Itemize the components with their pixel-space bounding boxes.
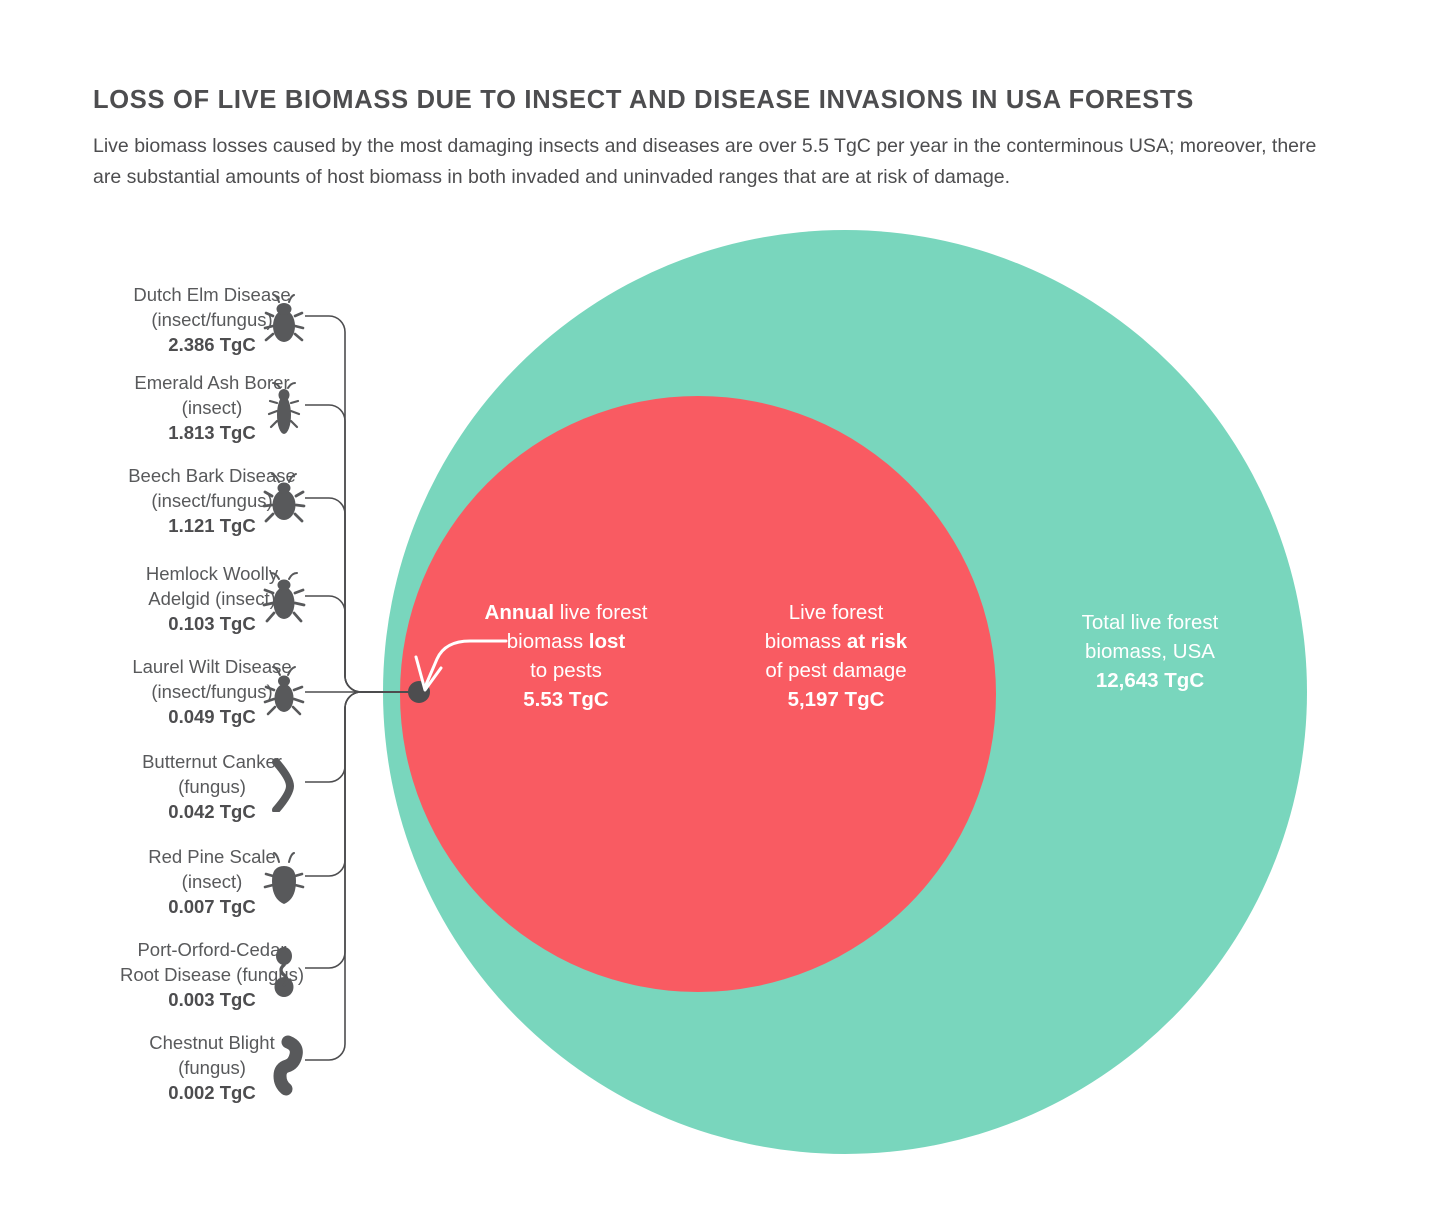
label-total-value: 12,643 TgC bbox=[1040, 666, 1260, 695]
canker-spore-icon bbox=[258, 752, 310, 816]
label-annual-loss-value: 5.53 TgC bbox=[446, 685, 686, 714]
label-at-risk-l2bold: at risk bbox=[847, 630, 907, 653]
label-at-risk: Live forest biomass at risk of pest dama… bbox=[722, 598, 950, 714]
label-total-l2: biomass, USA bbox=[1040, 637, 1260, 666]
label-annual-loss-bold: Annual bbox=[485, 601, 554, 624]
borer-icon bbox=[258, 377, 310, 441]
infographic-canvas: LOSS OF LIVE BIOMASS DUE TO INSECT AND D… bbox=[0, 0, 1440, 1220]
adelgid-icon bbox=[258, 568, 310, 632]
label-annual-loss: Annual live forest biomass lost to pests… bbox=[446, 598, 686, 714]
label-at-risk-l1: Live forest bbox=[722, 598, 950, 627]
label-total-l1: Total live forest bbox=[1040, 608, 1260, 637]
label-at-risk-value: 5,197 TgC bbox=[722, 685, 950, 714]
label-annual-loss-l2pre: biomass bbox=[507, 630, 589, 653]
label-annual-loss-l3: to pests bbox=[446, 656, 686, 685]
label-annual-loss-l1: live forest bbox=[554, 601, 647, 624]
label-total-biomass: Total live forest biomass, USA 12,643 Tg… bbox=[1040, 608, 1260, 695]
root-disease-spore-icon bbox=[258, 940, 310, 1004]
beetle-icon bbox=[258, 290, 310, 354]
scale-beetle-icon bbox=[258, 468, 310, 532]
label-at-risk-l2pre: biomass bbox=[765, 630, 847, 653]
label-annual-loss-l2bold: lost bbox=[589, 630, 625, 653]
pine-scale-icon bbox=[258, 848, 310, 912]
ambrosia-beetle-icon bbox=[258, 660, 310, 724]
label-at-risk-l3: of pest damage bbox=[722, 656, 950, 685]
blight-spore-icon bbox=[258, 1033, 310, 1097]
